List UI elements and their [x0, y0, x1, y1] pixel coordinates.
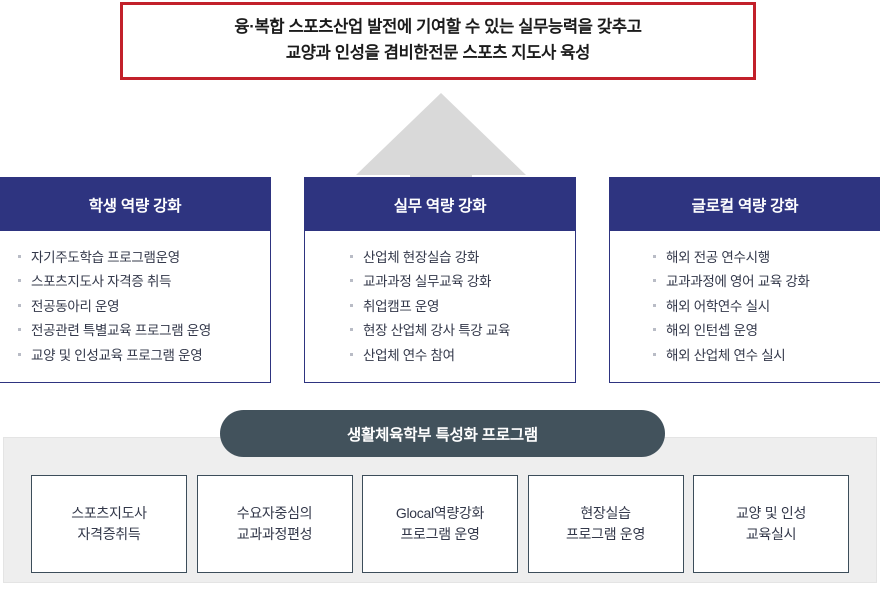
goal-statement-line-1: 융·복합 스포츠산업 발전에 기여할 수 있는 실무능력을 갖추고 [234, 15, 641, 41]
goal-statement-box: 융·복합 스포츠산업 발전에 기여할 수 있는 실무능력을 갖추고 교양과 인성… [120, 2, 756, 80]
up-arrow-icon [355, 90, 527, 182]
list-item-label: 해외 산업체 연수 실시 [666, 349, 785, 363]
bullet-square-icon [653, 304, 656, 307]
list-item: 해외 어학연수 실시 [653, 294, 770, 319]
pillar-title: 학생 역량 강화 [0, 178, 270, 231]
list-item: 해외 인턴셉 운영 [653, 319, 758, 344]
pillar-body: 산업체 현장실습 강화 교과과정 실무교육 강화 취업캠프 운영 현장 산업체 … [305, 231, 575, 382]
list-item: 해외 전공 연수시행 [653, 245, 770, 270]
pillar-item-list: 해외 전공 연수시행 교과과정에 영어 교육 강화 해외 어학연수 실시 해외 … [610, 245, 880, 368]
pillar-practical-capability: 실무 역량 강화 산업체 현장실습 강화 교과과정 실무교육 강화 취업캠프 운… [304, 177, 576, 383]
list-item: 스포츠지도사 자격증 취득 [18, 270, 171, 295]
program-banner: 생활체육학부 특성화 프로그램 [220, 410, 665, 457]
pillar-item-list: 자기주도학습 프로그램운영 스포츠지도사 자격증 취득 전공동아리 운영 전공관… [0, 245, 270, 368]
pillar-body: 자기주도학습 프로그램운영 스포츠지도사 자격증 취득 전공동아리 운영 전공관… [0, 231, 270, 382]
list-item: 현장 산업체 강사 특강 교육 [350, 319, 510, 344]
bullet-square-icon [18, 255, 21, 258]
bullet-square-icon [350, 255, 353, 258]
bullet-square-icon [350, 279, 353, 282]
program-card-row: 스포츠지도사 자격증취득 수요자중심의 교과과정편성 Glocal역량강화 프로… [31, 475, 849, 573]
program-card-line-1: 현장실습 [580, 503, 630, 524]
list-item-label: 취업캠프 운영 [363, 300, 439, 314]
program-card-line-1: Glocal역량강화 [396, 503, 484, 524]
pillar-title: 실무 역량 강화 [305, 178, 575, 231]
list-item-label: 해외 전공 연수시행 [666, 251, 770, 265]
list-item-label: 전공관련 특별교육 프로그램 운영 [31, 324, 211, 338]
program-card-line-1: 스포츠지도사 [71, 503, 146, 524]
pillar-title: 글로컬 역량 강화 [610, 178, 880, 231]
pillar-item-list: 산업체 현장실습 강화 교과과정 실무교육 강화 취업캠프 운영 현장 산업체 … [305, 245, 575, 368]
list-item-label: 현장 산업체 강사 특강 교육 [363, 324, 510, 338]
bullet-square-icon [653, 279, 656, 282]
list-item: 전공관련 특별교육 프로그램 운영 [18, 319, 211, 344]
list-item-label: 스포츠지도사 자격증 취득 [31, 275, 171, 289]
program-card[interactable]: 교양 및 인성 교육실시 [693, 475, 849, 573]
list-item: 교과과정 실무교육 강화 [350, 270, 491, 295]
bullet-square-icon [18, 304, 21, 307]
bullet-square-icon [653, 353, 656, 356]
bullet-square-icon [653, 255, 656, 258]
list-item-label: 자기주도학습 프로그램운영 [31, 251, 180, 265]
bullet-square-icon [18, 353, 21, 356]
list-item: 전공동아리 운영 [18, 294, 119, 319]
program-card-line-2: 교과과정편성 [237, 524, 312, 545]
list-item-label: 교양 및 인성교육 프로그램 운영 [31, 349, 202, 363]
bullet-square-icon [18, 279, 21, 282]
list-item-label: 산업체 연수 참여 [363, 349, 455, 363]
list-item: 교양 및 인성교육 프로그램 운영 [18, 343, 202, 368]
program-card-line-2: 자격증취득 [78, 524, 141, 545]
list-item-label: 교과과정 실무교육 강화 [363, 275, 491, 289]
program-card-line-2: 교육실시 [746, 524, 796, 545]
bullet-square-icon [350, 353, 353, 356]
list-item-label: 전공동아리 운영 [31, 300, 119, 314]
list-item-label: 해외 인턴셉 운영 [666, 324, 758, 338]
bullet-square-icon [350, 328, 353, 331]
pillar-body: 해외 전공 연수시행 교과과정에 영어 교육 강화 해외 어학연수 실시 해외 … [610, 231, 880, 382]
list-item: 취업캠프 운영 [350, 294, 439, 319]
list-item: 자기주도학습 프로그램운영 [18, 245, 180, 270]
program-card[interactable]: Glocal역량강화 프로그램 운영 [362, 475, 518, 573]
list-item: 산업체 현장실습 강화 [350, 245, 479, 270]
pillar-student-capability: 학생 역량 강화 자기주도학습 프로그램운영 스포츠지도사 자격증 취득 전공동… [0, 177, 271, 383]
program-card-line-2: 프로그램 운영 [566, 524, 645, 545]
list-item: 해외 산업체 연수 실시 [653, 343, 785, 368]
goal-statement-line-2: 교양과 인성을 겸비한전문 스포츠 지도사 육성 [286, 41, 590, 67]
program-card[interactable]: 현장실습 프로그램 운영 [528, 475, 684, 573]
diagram-canvas: 융·복합 스포츠산업 발전에 기여할 수 있는 실무능력을 갖추고 교양과 인성… [0, 0, 880, 604]
program-card-line-2: 프로그램 운영 [400, 524, 479, 545]
program-card[interactable]: 수요자중심의 교과과정편성 [197, 475, 353, 573]
bullet-square-icon [350, 304, 353, 307]
program-card[interactable]: 스포츠지도사 자격증취득 [31, 475, 187, 573]
bullet-square-icon [18, 328, 21, 331]
program-card-line-1: 수요자중심의 [237, 503, 312, 524]
up-arrow [355, 90, 527, 182]
list-item-label: 해외 어학연수 실시 [666, 300, 770, 314]
list-item: 교과과정에 영어 교육 강화 [653, 270, 810, 295]
program-card-line-1: 교양 및 인성 [736, 503, 806, 524]
list-item-label: 산업체 현장실습 강화 [363, 251, 479, 265]
pillar-glocal-capability: 글로컬 역량 강화 해외 전공 연수시행 교과과정에 영어 교육 강화 해외 어… [609, 177, 880, 383]
bullet-square-icon [653, 328, 656, 331]
list-item: 산업체 연수 참여 [350, 343, 455, 368]
list-item-label: 교과과정에 영어 교육 강화 [666, 275, 810, 289]
